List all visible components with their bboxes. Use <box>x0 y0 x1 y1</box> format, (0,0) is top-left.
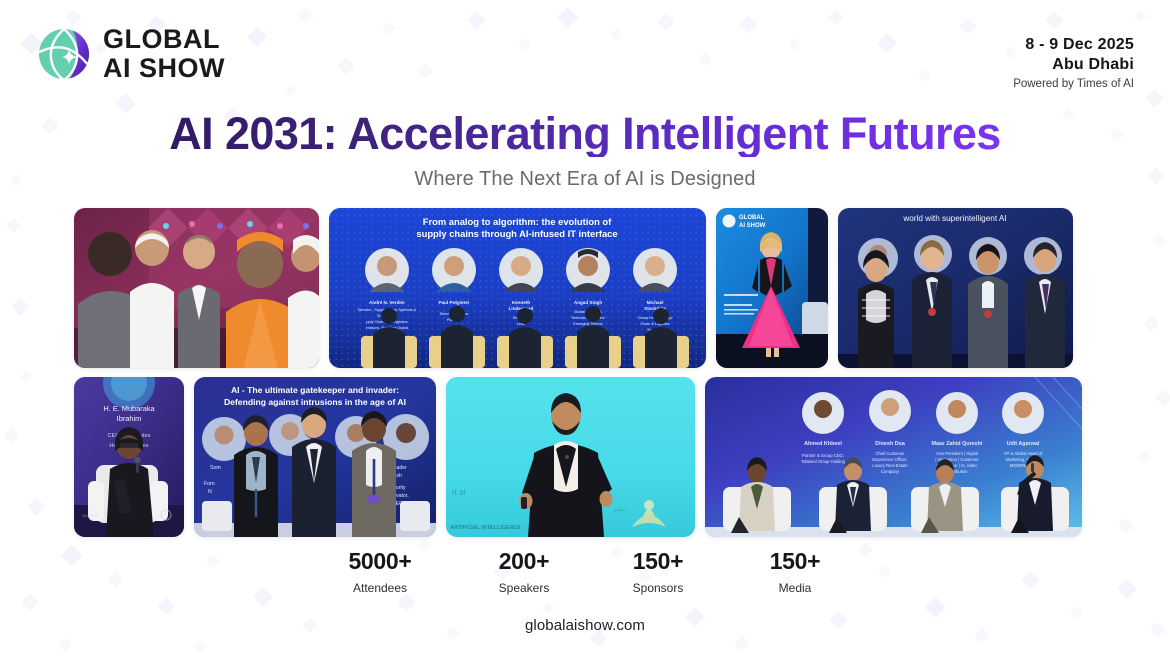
stat-speakers-label: Speakers <box>499 581 550 595</box>
stat-attendees-label: Attendees <box>348 581 411 595</box>
svg-text:Company: Company <box>881 469 900 474</box>
photo-supply-chain-panel: From analog to algorithm: the evolution … <box>329 208 706 368</box>
brand-wordmark: GLOBAL AI SHOW <box>103 26 225 82</box>
global-ai-show-globe-logo-icon <box>36 26 92 82</box>
stat-sponsors-label: Sponsors <box>633 581 684 595</box>
stat-media: 150+ Media <box>770 549 821 594</box>
svg-text:AI - The ultimate gatekeeper a: AI - The ultimate gatekeeper and invader… <box>231 385 399 395</box>
photo-superintelligent-ai-group: world with superintelligent AI rwin side… <box>838 208 1073 368</box>
svg-text:Dinesh Dua: Dinesh Dua <box>875 441 906 447</box>
svg-text:Kenneth: Kenneth <box>512 300 531 305</box>
stat-sponsors-value: 150+ <box>633 549 684 574</box>
svg-text:Experience Officer,: Experience Officer, <box>872 457 907 462</box>
event-date: 8 - 9 Dec 2025 <box>1013 35 1134 55</box>
brand-lockup: GLOBAL AI SHOW <box>36 26 225 82</box>
photo-mubaraka-ibrahim-fireside: H. E. Mubaraka Ibrahim CEO-AI Emirates H… <box>74 377 184 537</box>
svg-text:André N. Verdier: André N. Verdier <box>369 300 405 305</box>
stat-speakers-value: 200+ <box>499 549 550 574</box>
svg-text:rt at: rt at <box>452 488 467 497</box>
gallery-row: H. E. Mubaraka Ibrahim CEO-AI Emirates H… <box>74 377 1096 537</box>
stat-media-label: Media <box>770 581 821 595</box>
svg-text:Michael: Michael <box>647 300 664 305</box>
svg-text:supply chains through AI-infus: supply chains through AI-infused IT inte… <box>416 228 617 239</box>
svg-text:Ibrahim: Ibrahim <box>117 414 142 423</box>
svg-text:world with superintelligent AI: world with superintelligent AI <box>902 214 1006 223</box>
svg-text:Defending against intrusions i: Defending against intrusions in the age … <box>224 397 406 407</box>
svg-text:Emerging Techno: Emerging Techno <box>573 322 602 326</box>
svg-text:GLOBAL: GLOBAL <box>82 513 99 518</box>
page-footer: globalaishow.com <box>0 617 1170 635</box>
hero-titles: AI 2031: Accelerating Intelligent Future… <box>0 110 1170 191</box>
photo-customer-experience-panel: Ahmed Khbeel Partner & Group CEO, Tafase… <box>705 377 1082 537</box>
brand-line-global: GLOBAL <box>103 26 225 53</box>
stat-speakers: 200+ Speakers <box>499 549 550 594</box>
photo-gallery: From analog to algorithm: the evolution … <box>0 208 1170 537</box>
svg-text:H. E. Mubaraka: H. E. Mubaraka <box>103 404 155 413</box>
event-city: Abu Dhabi <box>1013 55 1134 75</box>
svg-text:Paul Potgieter: Paul Potgieter <box>439 300 470 305</box>
page-subtitle: Where The Next Era of AI is Designed <box>0 168 1170 191</box>
photo-keynote-speaker-pink: GLOBAL AI SHOW <box>716 208 828 368</box>
svg-text:AI SHOW: AI SHOW <box>739 223 766 229</box>
stat-attendees-value: 5000+ <box>348 549 411 574</box>
svg-text:Maaz Zahid Qureshi: Maaz Zahid Qureshi <box>932 441 983 447</box>
photo-keynote-speaker-teal: rt at ARTIFICIAL INTELLIGENCE ىنطو <box>446 377 695 537</box>
website-link[interactable]: globalaishow.com <box>525 617 645 634</box>
page-title: AI 2031: Accelerating Intelligent Future… <box>169 110 1000 157</box>
stat-media-value: 150+ <box>770 549 821 574</box>
event-powered-by: Powered by Times of AI <box>1013 77 1134 91</box>
svg-text:Chief Customer: Chief Customer <box>875 451 905 456</box>
svg-text:Tafaseel Group Holding: Tafaseel Group Holding <box>801 459 845 464</box>
svg-text:N: N <box>208 489 212 495</box>
svg-text:From analog to algorithm: the: From analog to algorithm: the evolution … <box>423 216 612 227</box>
brand-line-ai-show: AI SHOW <box>103 55 225 82</box>
svg-text:Forn: Forn <box>204 481 215 487</box>
svg-text:Udit Agarwal: Udit Agarwal <box>1007 441 1040 447</box>
svg-text:Luxury Real Estate: Luxury Real Estate <box>872 463 908 468</box>
svg-text:Som: Som <box>210 465 221 471</box>
svg-text:Vice President | Digital: Vice President | Digital <box>936 451 978 456</box>
photo-cybersecurity-panel-group: AI - The ultimate gatekeeper and invader… <box>194 377 436 537</box>
svg-text:Angad Singh: Angad Singh <box>574 300 603 305</box>
photo-networking-delegates <box>74 208 319 368</box>
event-meta: 8 - 9 Dec 2025 Abu Dhabi Powered by Time… <box>1013 26 1134 91</box>
stat-sponsors: 150+ Sponsors <box>633 549 684 594</box>
stats-bar: 5000+ Attendees 200+ Speakers 150+ Spons… <box>0 549 1170 611</box>
svg-text:GLOBAL: GLOBAL <box>739 215 765 221</box>
gallery-row: From analog to algorithm: the evolution … <box>74 208 1096 368</box>
event-promo-page: GLOBAL AI SHOW 8 - 9 Dec 2025 Abu Dhabi … <box>0 0 1170 658</box>
svg-text:VP & Global Head of: VP & Global Head of <box>1004 451 1043 456</box>
svg-text:ىنطو: ىنطو <box>613 506 626 513</box>
page-header: GLOBAL AI SHOW 8 - 9 Dec 2025 Abu Dhabi … <box>0 0 1170 104</box>
stat-attendees: 5000+ Attendees <box>348 549 411 594</box>
svg-text:Ahmed Khbeel: Ahmed Khbeel <box>804 441 842 447</box>
svg-text:ARTIFICIAL INTELLIGENCE: ARTIFICIAL INTELLIGENCE <box>450 525 521 531</box>
svg-text:Partner & Group CEO,: Partner & Group CEO, <box>802 453 844 458</box>
